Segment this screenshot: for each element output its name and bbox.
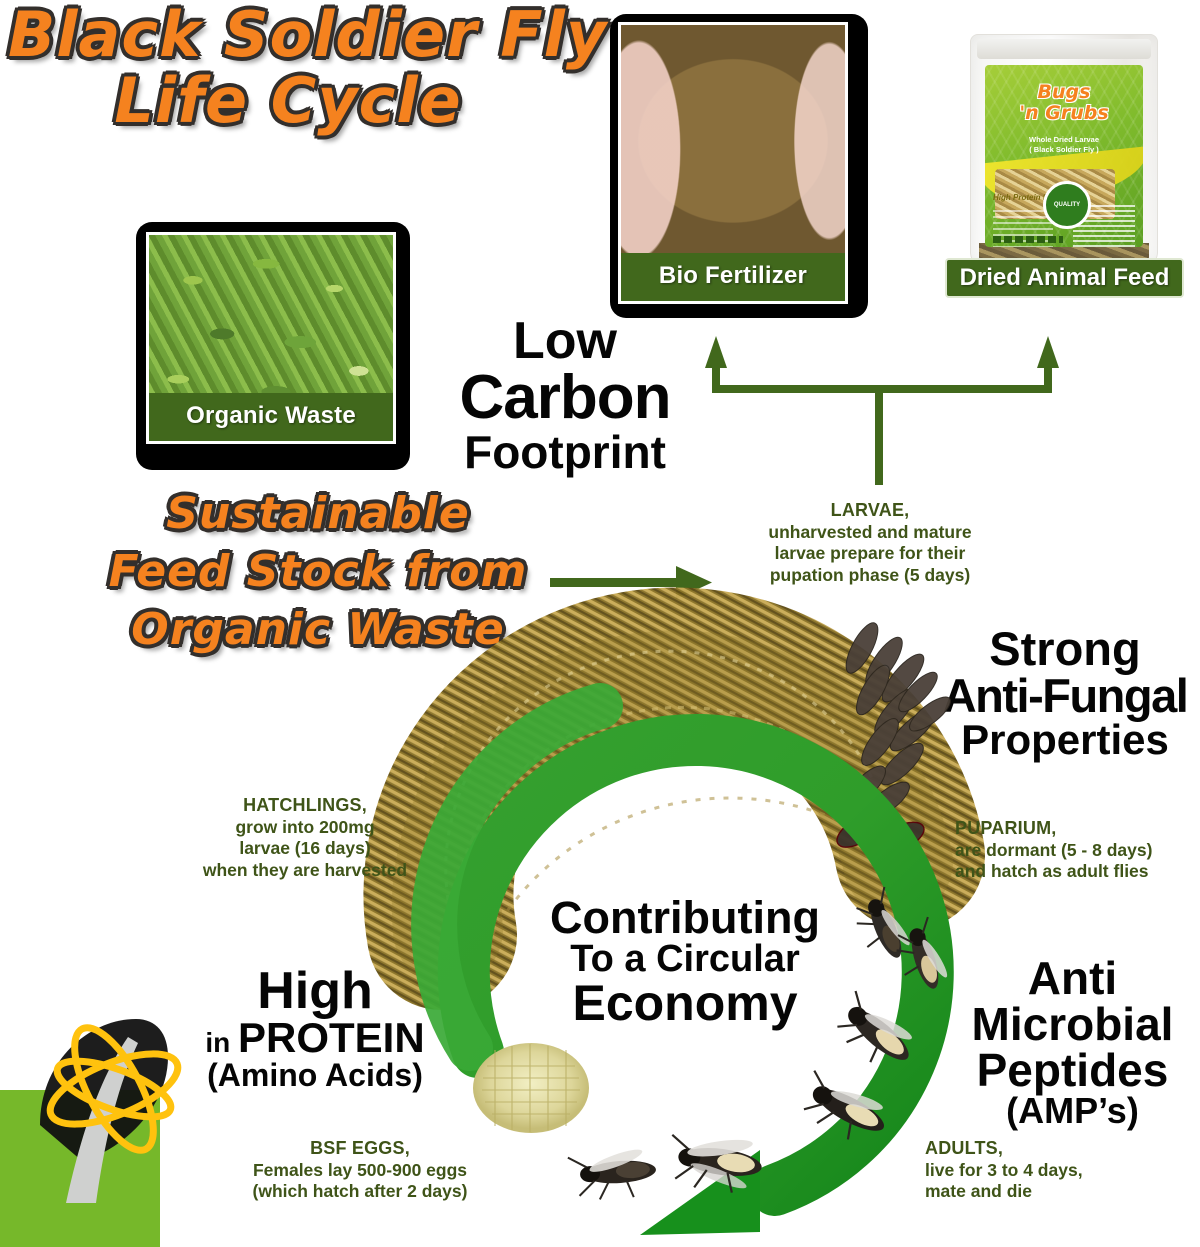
amp-line-2: Microbial bbox=[945, 1001, 1200, 1047]
bag-subtitle-line-1: Whole Dried Larvae bbox=[1029, 135, 1099, 144]
larvae-line-2: larvae prepare for their bbox=[720, 543, 1020, 564]
circular-line-2: To a Circular bbox=[530, 940, 840, 978]
organic-waste-caption: Organic Waste bbox=[149, 393, 393, 441]
bag-quality-seal-icon: QUALITY bbox=[1043, 181, 1091, 229]
adults-line-1: live for 3 to 4 days, bbox=[925, 1160, 1155, 1181]
stage-bsf-eggs: BSF EGGS, Females lay 500-900 eggs (whic… bbox=[215, 1138, 505, 1203]
hatchlings-line-2: larvae (16 days) bbox=[190, 838, 420, 859]
leaf-orbit-logo-icon bbox=[0, 1090, 160, 1247]
arrow-up-icon bbox=[1037, 336, 1059, 368]
bsf-eggs-heading: BSF EGGS, bbox=[215, 1138, 505, 1160]
hatchlings-line-1: grow into 200mg bbox=[190, 817, 420, 838]
adults-line-2: mate and die bbox=[925, 1181, 1155, 1202]
bag-label: Bugs 'n Grubs Whole Dried Larvae ( Black… bbox=[985, 65, 1143, 247]
card-organic-waste: Organic Waste bbox=[136, 222, 410, 470]
title-line-1: Black Soldier Fly bbox=[8, 0, 607, 71]
arrow-larvae-to-products bbox=[705, 336, 1059, 485]
benefit-anti-fungal: Strong Anti-Fungal Properties bbox=[930, 625, 1200, 761]
adults-heading: ADULTS, bbox=[925, 1138, 1155, 1160]
puparium-line-2: and hatch as adult flies bbox=[955, 861, 1200, 882]
benefit-low-carbon-footprint: Low Carbon Footprint bbox=[430, 315, 700, 475]
title-line-2: Life Cycle bbox=[8, 70, 568, 132]
bag-brand: Bugs 'n Grubs bbox=[985, 83, 1143, 123]
larvae-line-1: unharvested and mature bbox=[720, 522, 1020, 543]
bio-fertilizer-photo-frame: Bio Fertilizer bbox=[618, 22, 848, 304]
low-carbon-line-1: Low bbox=[430, 315, 700, 367]
circular-line-1: Contributing bbox=[530, 895, 840, 940]
low-carbon-line-3: Footprint bbox=[430, 429, 700, 475]
amp-line-3: Peptides bbox=[945, 1047, 1200, 1093]
amp-line-4: (AMP’s) bbox=[945, 1093, 1200, 1129]
feedstock-line-2: Feed Stock from bbox=[108, 550, 528, 594]
bag-brand-line-1: Bugs bbox=[1038, 81, 1091, 103]
page-title: Black Soldier Fly Life Cycle bbox=[8, 4, 568, 132]
feedstock-line-1: Sustainable bbox=[108, 492, 528, 536]
circular-line-3: Economy bbox=[530, 978, 840, 1028]
dried-animal-feed-caption: Dried Animal Feed bbox=[945, 258, 1184, 298]
bsf-egg-mass bbox=[473, 1043, 589, 1133]
bag-subtitle-line-2: ( Black Soldier Fly ) bbox=[1029, 145, 1099, 154]
puparium-heading: PUPARIUM, bbox=[955, 818, 1200, 840]
low-carbon-line-2: Carbon bbox=[430, 367, 700, 429]
bio-fertilizer-caption: Bio Fertilizer bbox=[621, 253, 845, 301]
protein-main-word: PROTEIN bbox=[238, 1014, 425, 1061]
anti-fungal-line-2: Anti-Fungal bbox=[930, 672, 1200, 719]
bsf-eggs-line-1: Females lay 500-900 eggs bbox=[215, 1160, 505, 1181]
stage-hatchlings: HATCHLINGS, grow into 200mg larvae (16 d… bbox=[190, 795, 420, 881]
larvae-line-3: pupation phase (5 days) bbox=[720, 565, 1020, 586]
product-bag-image: Bugs 'n Grubs Whole Dried Larvae ( Black… bbox=[970, 34, 1158, 268]
arrow-up-icon bbox=[705, 336, 727, 368]
larvae-heading: LARVAE, bbox=[720, 500, 1020, 522]
puparium-line-1: are dormant (5 - 8 days) bbox=[955, 840, 1200, 861]
sustainable-feedstock-heading: Sustainable Feed Stock from Organic Wast… bbox=[108, 492, 528, 666]
bag-zipper bbox=[977, 39, 1151, 59]
bsf-eggs-line-2: (which hatch after 2 days) bbox=[215, 1181, 505, 1202]
hatchlings-line-3: when they are harvested bbox=[190, 860, 420, 881]
bag-brand-line-2: 'n Grubs bbox=[985, 104, 1143, 123]
bio-fertilizer-photo: Bio Fertilizer bbox=[621, 25, 845, 301]
bag-subtitle: Whole Dried Larvae ( Black Soldier Fly ) bbox=[985, 135, 1143, 155]
organic-waste-photo-frame: Organic Waste bbox=[146, 232, 396, 444]
organic-waste-photo: Organic Waste bbox=[149, 235, 393, 441]
feedstock-line-3: Organic Waste bbox=[108, 608, 528, 652]
stage-larvae: LARVAE, unharvested and mature larvae pr… bbox=[720, 500, 1020, 586]
benefit-circular-economy: Contributing To a Circular Economy bbox=[530, 895, 840, 1028]
logo-mark bbox=[10, 1005, 230, 1215]
card-bio-fertilizer: Bio Fertilizer bbox=[610, 14, 868, 318]
anti-fungal-line-3: Properties bbox=[930, 719, 1200, 761]
amp-line-1: Anti bbox=[945, 955, 1200, 1001]
stage-puparium: PUPARIUM, are dormant (5 - 8 days) and h… bbox=[955, 818, 1200, 883]
arrow-right-icon bbox=[550, 566, 712, 599]
stage-adults: ADULTS, live for 3 to 4 days, mate and d… bbox=[925, 1138, 1155, 1203]
benefit-anti-microbial-peptides: Anti Microbial Peptides (AMP’s) bbox=[945, 955, 1200, 1129]
bag-footer-logos bbox=[993, 236, 1063, 243]
hatchlings-heading: HATCHLINGS, bbox=[190, 795, 420, 817]
anti-fungal-line-1: Strong bbox=[930, 625, 1200, 672]
bag-seal-text: QUALITY bbox=[1046, 184, 1088, 226]
